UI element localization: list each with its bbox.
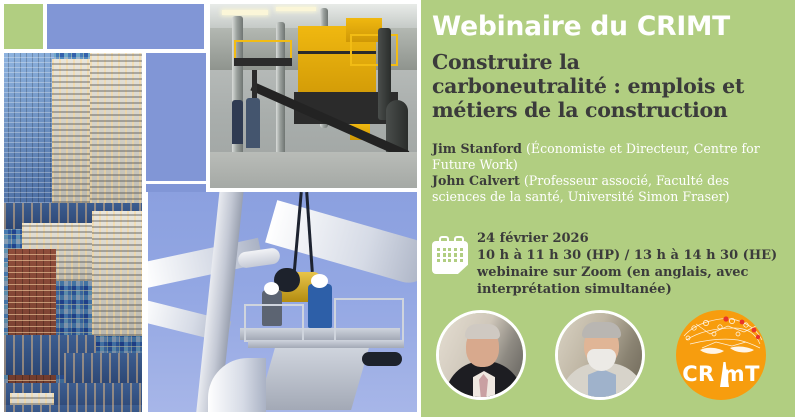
crimt-word-start: CR [682, 362, 714, 386]
speaker-entry: John Calvert (Professeur associé, Facult… [432, 173, 784, 205]
content-panel: Webinaire du CRIMT Construire la carbone… [421, 0, 795, 417]
subtitle-line-3: métiers de la construction [432, 98, 784, 122]
avatar-hair [582, 322, 621, 338]
speaker-photo-john-calvert [555, 310, 645, 400]
collage-periwinkle-banner [47, 4, 204, 49]
avatar-hair [465, 324, 500, 339]
crimt-logo: CRImT [676, 310, 766, 400]
image-collage [0, 0, 421, 417]
webinar-poster: Webinaire du CRIMT Construire la carbone… [0, 0, 795, 417]
collage-wind-turbine-photo [148, 192, 417, 412]
speaker-name: Jim Stanford [432, 141, 522, 156]
logo-row: CRImT [433, 308, 789, 408]
event-details-text: 24 février 2026 10 h à 11 h 30 (HP) / 13… [477, 230, 788, 299]
calendar-icon [432, 236, 468, 274]
collage-city-photo [4, 53, 142, 412]
collage-industrial-photo [210, 4, 417, 188]
crimt-network-graphic [676, 314, 766, 358]
collage-periwinkle-block-small [146, 184, 206, 192]
crimt-word-end: mT [723, 362, 760, 386]
collage-periwinkle-block-mid [146, 53, 206, 181]
speaker-entry: Jim Stanford (Économiste et Directeur, C… [432, 141, 784, 173]
event-date: 24 février 2026 [477, 230, 788, 247]
avatar-shirt [588, 369, 616, 400]
event-time: 10 h à 11 h 30 (HP) / 13 h à 14 h 30 (HE… [477, 247, 788, 264]
event-format: webinaire sur Zoom (en anglais, avec int… [477, 264, 788, 298]
speaker-list: Jim Stanford (Économiste et Directeur, C… [432, 141, 784, 205]
subtitle-line-2: carboneutralité : emplois et [432, 74, 784, 98]
subtitle-line-1: Construire la [432, 50, 784, 74]
event-details: 24 février 2026 10 h à 11 h 30 (HP) / 13… [432, 230, 788, 299]
webinar-subtitle: Construire la carboneutralité : emplois … [432, 50, 784, 122]
collage-green-block [4, 4, 43, 49]
calendar-grid [437, 248, 463, 262]
speaker-photo-jim-stanford [436, 310, 526, 400]
speaker-name: John Calvert [432, 173, 520, 188]
page-title: Webinaire du CRIMT [432, 13, 787, 41]
